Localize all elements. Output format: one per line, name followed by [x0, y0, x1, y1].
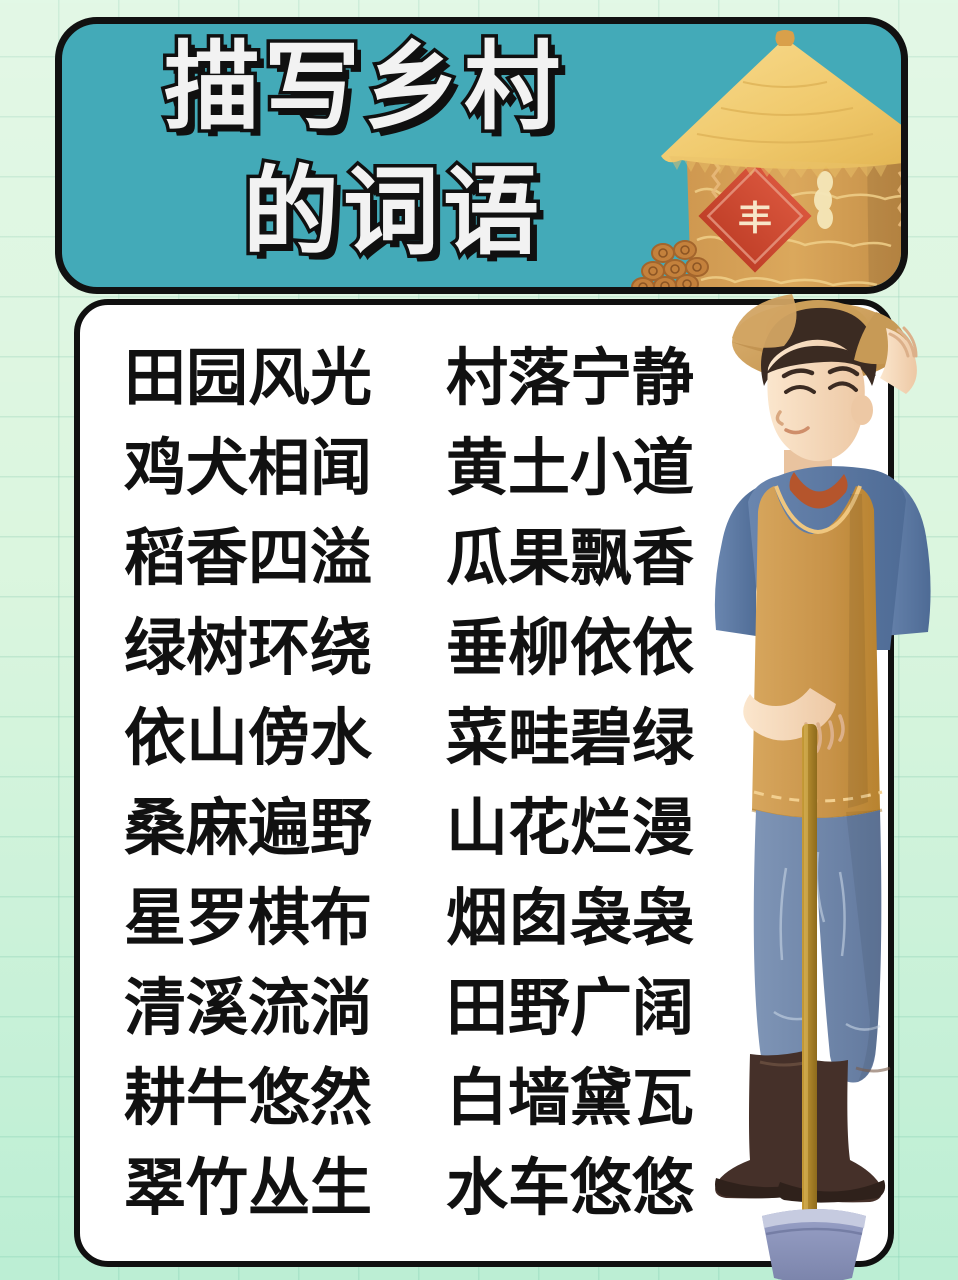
- table-row: 鸡犬相闻 黄土小道: [124, 423, 740, 513]
- word-item: 星罗棋布: [124, 887, 446, 949]
- table-row: 清溪流淌 田野广阔: [124, 963, 740, 1053]
- word-item: 依山傍水: [124, 707, 446, 769]
- table-row: 耕牛悠然 白墙黛瓦: [124, 1053, 740, 1143]
- word-grid: 田园风光 村落宁静 鸡犬相闻 黄土小道 稻香四溢 瓜果飘香 绿树环绕 垂柳依依 …: [124, 333, 740, 1233]
- word-item: 绿树环绕: [124, 617, 446, 679]
- page-title: 描写乡村 的词语: [84, 26, 644, 276]
- table-row: 桑麻遍野 山花烂漫: [124, 783, 740, 873]
- page-background: 描写乡村 的词语: [0, 0, 958, 1280]
- word-item: 翠竹丛生: [124, 1157, 446, 1219]
- word-item: 鸡犬相闻: [124, 437, 446, 499]
- word-item: 耕牛悠然: [124, 1067, 446, 1129]
- header-banner: 描写乡村 的词语: [55, 17, 908, 294]
- thatched-hut-illustration: 丰: [617, 30, 908, 294]
- table-row: 星罗棋布 烟囱袅袅: [124, 873, 740, 963]
- title-line-1: 描写乡村: [164, 34, 564, 141]
- table-row: 依山傍水 菜畦碧绿: [124, 693, 740, 783]
- table-row: 田园风光 村落宁静: [124, 333, 740, 423]
- word-item: 田园风光: [124, 347, 446, 409]
- word-item: 稻香四溢: [124, 527, 446, 589]
- table-row: 绿树环绕 垂柳依依: [124, 603, 740, 693]
- word-item: 清溪流淌: [124, 977, 446, 1039]
- table-row: 稻香四溢 瓜果飘香: [124, 513, 740, 603]
- word-item: 桑麻遍野: [124, 797, 446, 859]
- farmer-illustration: [690, 272, 958, 1280]
- hut-sign-character: 丰: [738, 199, 772, 239]
- title-line-2: 的词语: [84, 151, 644, 276]
- table-row: 翠竹丛生 水车悠悠: [124, 1143, 740, 1233]
